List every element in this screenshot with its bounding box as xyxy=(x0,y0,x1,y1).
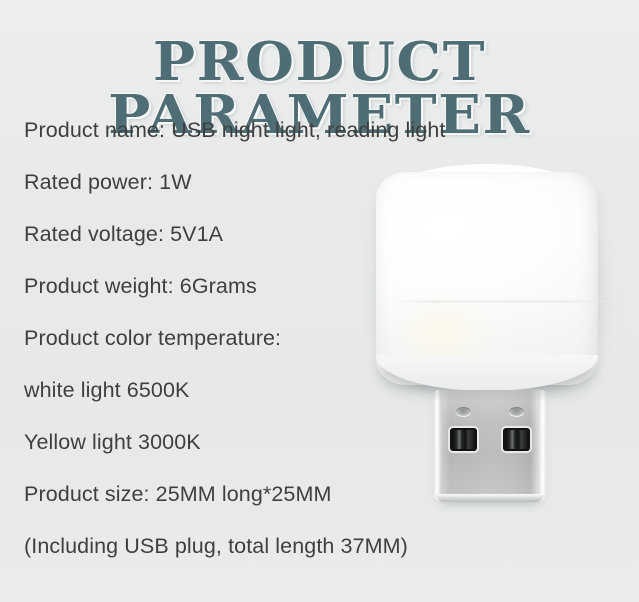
usb-contact-strips-left xyxy=(453,430,474,449)
usb-port-cutout-right xyxy=(503,428,530,451)
usb-a-plug xyxy=(434,390,546,502)
usb-plug-tip xyxy=(436,494,544,502)
spec-line-total-length: (Including USB plug, total length 37MM) xyxy=(24,520,424,572)
usb-dimple-left xyxy=(456,407,471,416)
lamp-diffuser-body xyxy=(376,172,598,385)
usb-neck-shading xyxy=(434,390,546,402)
lamp-seam-line xyxy=(394,300,612,303)
spec-line-product-name: Product name: USB night light, reading l… xyxy=(24,104,424,156)
usb-contact-strips-right xyxy=(506,430,527,449)
usb-night-light-photo xyxy=(360,150,620,520)
usb-port-cutout-left xyxy=(450,428,477,451)
usb-dimple-right xyxy=(509,407,524,416)
product-parameter-infographic: PRODUCT PARAMETER Product name: USB nigh… xyxy=(0,0,639,602)
